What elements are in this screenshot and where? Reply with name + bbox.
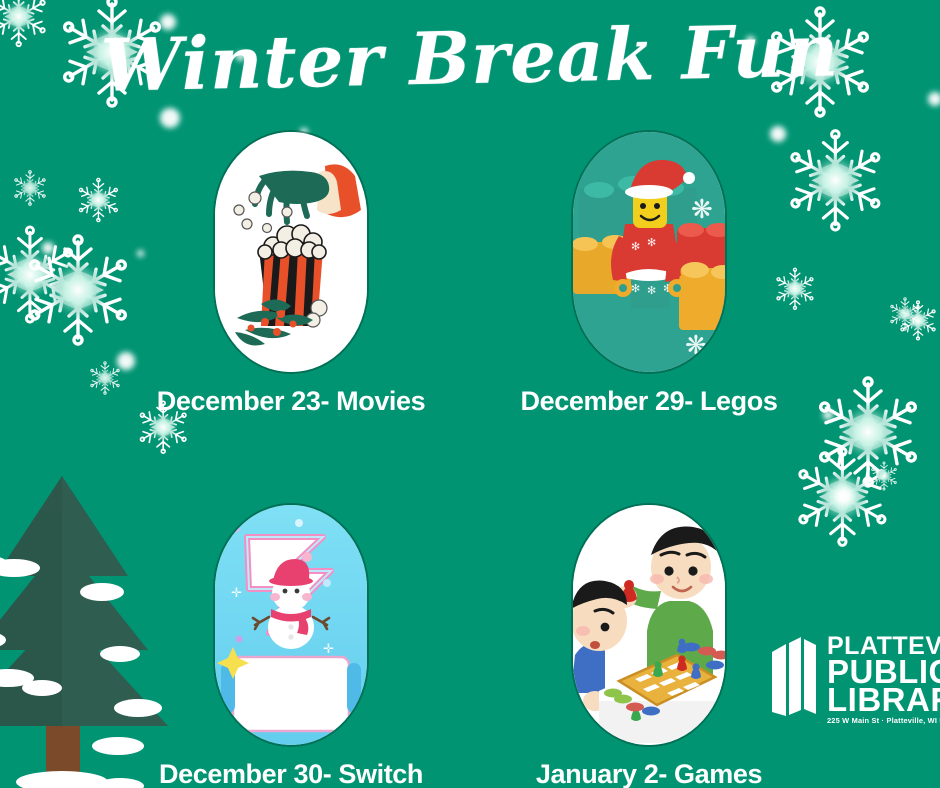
event-cell-games[interactable]: January 2- Games bbox=[563, 505, 735, 788]
event-card-movies[interactable] bbox=[215, 132, 367, 372]
event-cell-switch[interactable]: ✛ ✛ bbox=[205, 505, 377, 788]
event-grid: December 23- Movies bbox=[70, 132, 870, 788]
snowman-switch-screen-illustration: ✛ ✛ bbox=[215, 505, 367, 745]
logo-wordmark: PLATTEVILLE PUBLIC LIBRARY 225 W Main St… bbox=[827, 636, 940, 725]
event-cell-movies[interactable]: December 23- Movies bbox=[205, 132, 377, 417]
snow-dot-icon bbox=[160, 108, 180, 128]
svg-text:❋: ❋ bbox=[685, 330, 707, 360]
event-card-switch[interactable]: ✛ ✛ bbox=[215, 505, 367, 745]
children-board-game-illustration bbox=[573, 505, 725, 745]
event-caption: January 2- Games bbox=[536, 759, 762, 788]
snow-dot-icon bbox=[928, 92, 940, 106]
stacked-books-icon bbox=[770, 636, 818, 720]
event-caption: December 23- Movies bbox=[157, 386, 426, 417]
page-title: Winter Break Fun bbox=[0, 12, 940, 104]
svg-text:✻: ✻ bbox=[631, 241, 640, 253]
event-card-games[interactable] bbox=[573, 505, 725, 745]
event-row-top: December 23- Movies bbox=[70, 132, 870, 417]
svg-text:✛: ✛ bbox=[231, 585, 242, 600]
lego-minifigure-santa-photo: ✻✻✻ ✻✻✻ bbox=[573, 132, 725, 372]
svg-text:❋: ❋ bbox=[691, 194, 713, 224]
winter-break-poster: Winter Break Fun bbox=[0, 0, 940, 788]
event-caption: December 29- Legos bbox=[521, 386, 778, 417]
event-card-legos[interactable]: ✻✻✻ ✻✻✻ bbox=[573, 132, 725, 372]
library-logo: PLATTEVILLE PUBLIC LIBRARY 225 W Main St… bbox=[770, 636, 940, 725]
logo-address: 225 W Main St · Platteville, WI 53818 bbox=[827, 718, 940, 724]
event-row-bottom: ✛ ✛ bbox=[70, 505, 870, 788]
popcorn-grinch-hand-illustration bbox=[215, 132, 367, 372]
logo-line-library: LIBRARY bbox=[827, 686, 940, 714]
snow-dot-icon bbox=[42, 242, 54, 254]
svg-text:✻: ✻ bbox=[647, 285, 656, 297]
svg-text:✻: ✻ bbox=[647, 237, 656, 249]
svg-text:✛: ✛ bbox=[323, 641, 334, 656]
event-cell-legos[interactable]: ✻✻✻ ✻✻✻ bbox=[563, 132, 735, 417]
svg-text:✻: ✻ bbox=[631, 283, 640, 295]
event-caption: December 30- Switch bbox=[159, 759, 423, 788]
